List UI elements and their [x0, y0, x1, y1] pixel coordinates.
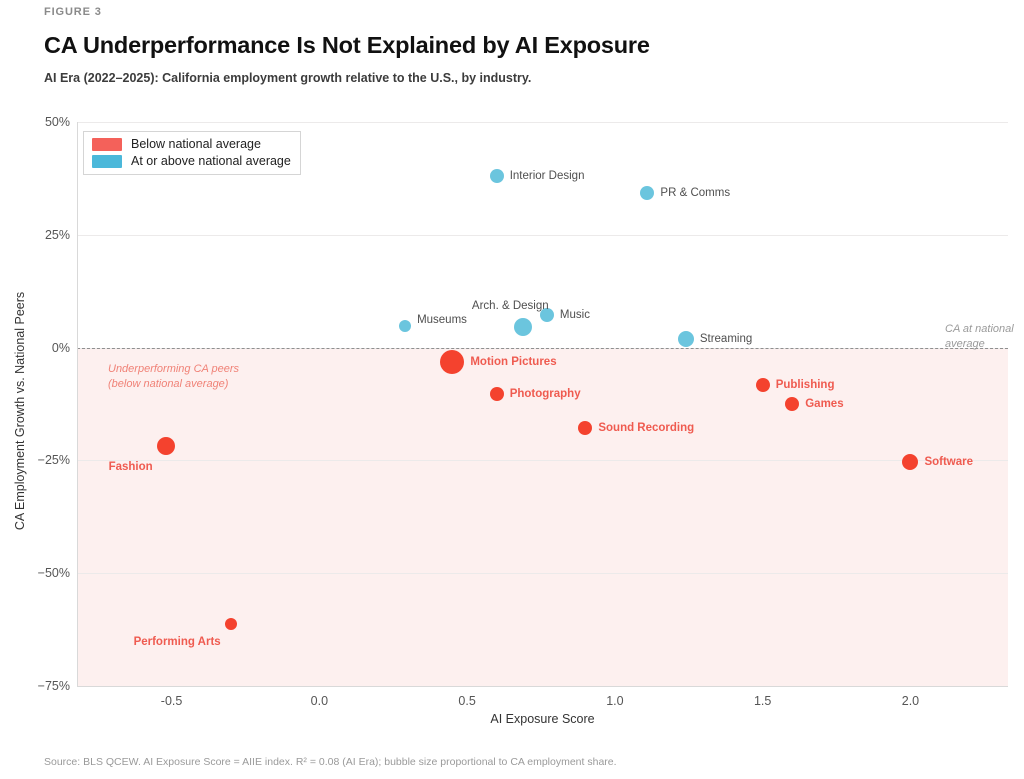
data-point-label: Arch. & Design [472, 300, 549, 312]
data-point-bubble[interactable] [678, 331, 694, 347]
x-tick-label: 1.0 [580, 694, 650, 708]
legend: Below national average At or above natio… [83, 131, 301, 175]
data-point-label: Games [805, 398, 843, 410]
data-point-label: Music [560, 309, 590, 321]
legend-item-above: At or above national average [92, 154, 291, 168]
data-point-label: Software [924, 456, 973, 468]
data-point-label: Publishing [776, 379, 835, 391]
chart-canvas: Interior DesignPR & CommsMusicArch. & De… [0, 0, 1024, 779]
data-point-label: PR & Comms [660, 187, 730, 199]
legend-item-below: Below national average [92, 137, 291, 151]
annotation-underperforming: Underperforming CA peers (below national… [108, 362, 239, 392]
data-point-bubble[interactable] [399, 320, 411, 332]
data-point-bubble[interactable] [514, 318, 532, 336]
data-point-label: Motion Pictures [470, 356, 556, 368]
data-point-bubble[interactable] [756, 378, 770, 392]
legend-label-above: At or above national average [131, 154, 291, 168]
data-point-bubble[interactable] [490, 387, 504, 401]
data-point-bubble[interactable] [490, 169, 504, 183]
x-tick-label: 1.5 [728, 694, 798, 708]
gridline [77, 573, 1008, 574]
x-tick-label: 0.5 [432, 694, 502, 708]
gridline [77, 460, 1008, 461]
data-point-label: Interior Design [510, 170, 585, 182]
data-point-label: Museums [417, 314, 467, 326]
data-point-label: Sound Recording [598, 422, 694, 434]
x-tick-label: -0.5 [137, 694, 207, 708]
data-point-bubble[interactable] [157, 437, 175, 455]
data-point-bubble[interactable] [902, 454, 918, 470]
gridline [77, 122, 1008, 123]
legend-swatch-above [92, 155, 122, 168]
data-point-bubble[interactable] [225, 618, 237, 630]
x-tick-label: 2.0 [875, 694, 945, 708]
x-tick-label: 0.0 [284, 694, 354, 708]
data-point-bubble[interactable] [578, 421, 592, 435]
annotation-ca-at-national: CA at national average [945, 322, 1024, 352]
legend-swatch-below [92, 138, 122, 151]
x-axis-title: AI Exposure Score [77, 712, 1008, 726]
data-point-label: Fashion [109, 461, 153, 473]
x-axis-spine [77, 686, 1008, 687]
data-point-bubble[interactable] [440, 350, 464, 374]
data-point-label: Performing Arts [134, 636, 221, 648]
zero-reference-line [77, 348, 1008, 349]
data-point-bubble[interactable] [640, 186, 654, 200]
legend-label-below: Below national average [131, 137, 261, 151]
gridline [77, 235, 1008, 236]
y-axis-title: CA Employment Growth vs. National Peers [13, 131, 27, 691]
data-point-label: Photography [510, 388, 581, 400]
plot-area: Interior DesignPR & CommsMusicArch. & De… [77, 122, 1008, 686]
source-note: Source: BLS QCEW. AI Exposure Score = AI… [44, 756, 617, 768]
y-tick-label: 50% [10, 115, 70, 129]
data-point-bubble[interactable] [785, 397, 799, 411]
data-point-label: Streaming [700, 333, 752, 345]
y-axis-spine [77, 122, 78, 686]
